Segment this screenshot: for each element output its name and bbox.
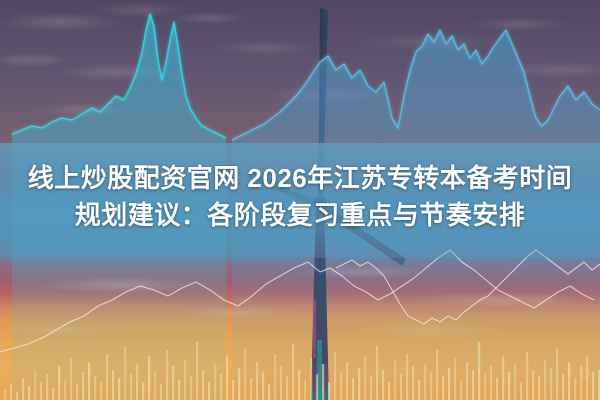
headline-line-2: 规划建议：各阶段复习重点与节奏安排: [0, 197, 600, 234]
banner-image: 线上炒股配资官网 2026年江苏专转本备考时间 规划建议：各阶段复习重点与节奏安…: [0, 0, 600, 400]
volume-bar: [4, 390, 6, 400]
volume-bar: [226, 356, 228, 400]
volume-bar: [10, 384, 12, 400]
page-title: 线上炒股配资官网 2026年江苏专转本备考时间 规划建议：各阶段复习重点与节奏安…: [0, 160, 600, 234]
watermark-icon: [581, 369, 590, 378]
headline-line-1: 线上炒股配资官网 2026年江苏专转本备考时间: [0, 160, 600, 197]
